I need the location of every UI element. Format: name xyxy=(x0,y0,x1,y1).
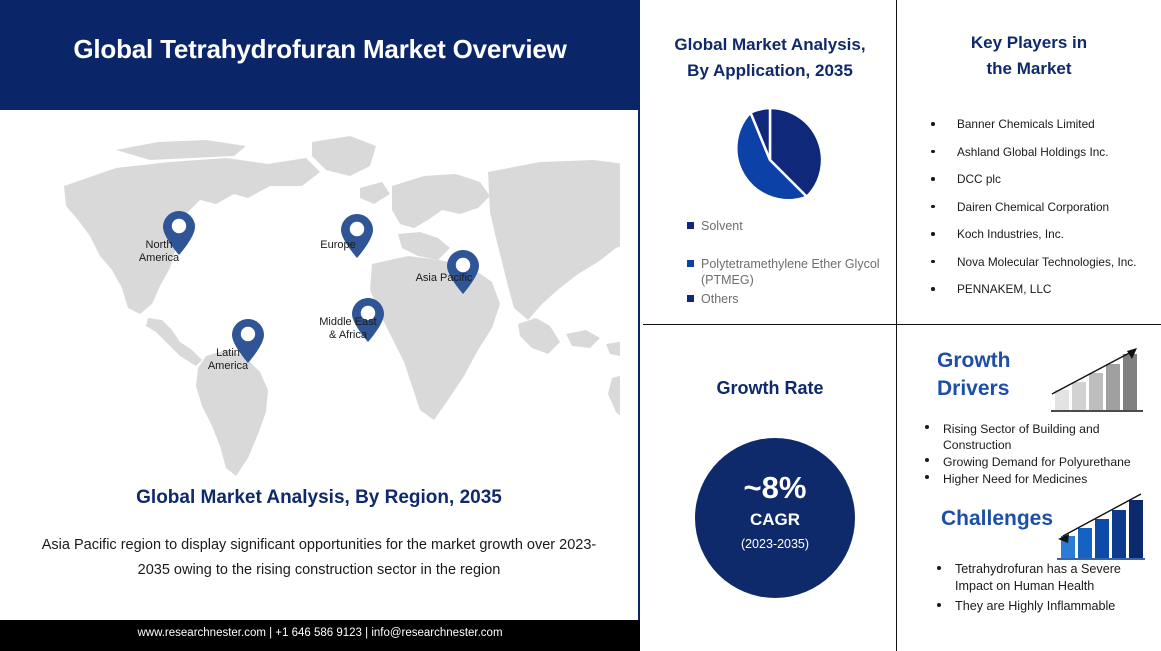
region-analysis-description: Asia Pacific region to display significa… xyxy=(30,533,608,583)
bullet-icon xyxy=(925,458,929,462)
list-item: Dairen Chemical Corporation xyxy=(925,201,1153,215)
list-item-label: Ashland Global Holdings Inc. xyxy=(957,145,1108,159)
title-bar: Global Tetrahydrofuran Market Overview xyxy=(0,0,640,110)
growth-rate-panel: Growth Rate ~8% CAGR (2023-2035) xyxy=(643,325,897,651)
list-item: Rising Sector of Building and Constructi… xyxy=(915,421,1139,453)
legend-swatch-icon xyxy=(687,260,694,267)
list-item-label: Tetrahydrofuran has a Severe Impact on H… xyxy=(955,562,1121,593)
key-players-list: Banner Chemicals Limited Ashland Global … xyxy=(925,118,1153,311)
map-pin-asia-pacific[interactable] xyxy=(426,231,460,277)
list-item: Koch Industries, Inc. xyxy=(925,228,1153,242)
bullet-icon xyxy=(937,566,941,570)
map-pin-label-asia-pacific: Asia Pacific xyxy=(398,272,490,285)
map-pin-north-america[interactable] xyxy=(142,192,176,238)
left-panel: Global Tetrahydrofuran Market Overview xyxy=(0,0,640,651)
bullet-icon xyxy=(931,122,935,126)
challenges-list: Tetrahydrofuran has a Severe Impact on H… xyxy=(915,561,1143,618)
list-item-label: Dairen Chemical Corporation xyxy=(957,200,1109,214)
drivers-challenges-panel: GrowthDrivers Rising Sector of Building … xyxy=(897,325,1161,651)
list-item-label: They are Highly Inflammable xyxy=(955,599,1115,613)
map-pin-label-latin-america: LatinAmerica xyxy=(182,347,274,372)
application-analysis-heading: Global Market Analysis,By Application, 2… xyxy=(651,32,889,84)
list-item-label: DCC plc xyxy=(957,172,1001,186)
legend-label: Solvent xyxy=(701,219,743,233)
growth-drivers-heading: GrowthDrivers xyxy=(937,347,1057,403)
map-pin-label-europe: Europe xyxy=(294,239,382,252)
list-item: Tetrahydrofuran has a Severe Impact on H… xyxy=(915,561,1143,595)
bullet-icon xyxy=(931,260,935,264)
footer-contact-text: www.researchnester.com | +1 646 586 9123… xyxy=(0,627,640,639)
map-pin-europe[interactable] xyxy=(320,195,354,241)
bullet-icon xyxy=(931,150,935,154)
list-item: PENNAKEM, LLC xyxy=(925,283,1153,297)
cagr-label: CAGR xyxy=(695,510,855,530)
page-title: Global Tetrahydrofuran Market Overview xyxy=(0,34,640,65)
bullet-icon xyxy=(931,177,935,181)
legend-label: Others xyxy=(701,292,739,306)
list-item: Nova Molecular Technologies, Inc. xyxy=(925,256,1153,270)
list-item: DCC plc xyxy=(925,173,1153,187)
list-item: Ashland Global Holdings Inc. xyxy=(925,146,1153,160)
world-map-svg xyxy=(20,128,620,478)
growth-drivers-list: Rising Sector of Building and Constructi… xyxy=(915,421,1139,488)
list-item: Banner Chemicals Limited xyxy=(925,118,1153,132)
legend-item-ptmeg: Polytetramethylene Ether Glycol (PTMEG) xyxy=(687,256,893,288)
legend-swatch-icon xyxy=(687,222,694,229)
legend-swatch-icon xyxy=(687,295,694,302)
map-pin-label-middle-east-africa: Middle East& Africa xyxy=(302,316,394,341)
list-item: Growing Demand for Polyurethane xyxy=(915,454,1139,470)
infographic-page: Global Tetrahydrofuran Market Overview xyxy=(0,0,1161,651)
application-pie-chart xyxy=(715,105,825,215)
challenges-bar-chart-icon xyxy=(1055,490,1147,562)
cagr-period: (2023-2035) xyxy=(695,537,855,551)
pie-legend: Solvent Polytetramethylene Ether Glycol … xyxy=(687,218,893,309)
list-item-label: Banner Chemicals Limited xyxy=(957,117,1095,131)
bullet-icon xyxy=(925,475,929,479)
legend-item-solvent: Solvent xyxy=(687,218,893,234)
list-item-label: Nova Molecular Technologies, Inc. xyxy=(957,255,1136,269)
map-pin-label-north-america: NorthAmerica xyxy=(114,239,204,264)
legend-label: Polytetramethylene Ether Glycol (PTMEG) xyxy=(701,257,880,287)
growth-rate-heading: Growth Rate xyxy=(651,378,889,399)
region-analysis-title: Global Market Analysis, By Region, 2035 xyxy=(0,487,638,509)
list-item-label: PENNAKEM, LLC xyxy=(957,282,1051,296)
key-players-panel: Key Players inthe Market Banner Chemical… xyxy=(897,0,1161,325)
bullet-icon xyxy=(925,425,929,429)
bullet-icon xyxy=(931,232,935,236)
application-analysis-panel: Global Market Analysis,By Application, 2… xyxy=(643,0,897,325)
key-players-heading: Key Players inthe Market xyxy=(907,30,1151,82)
list-item-label: Koch Industries, Inc. xyxy=(957,227,1064,241)
footer-bar: www.researchnester.com | +1 646 586 9123… xyxy=(0,620,640,651)
cagr-percent: ~8% xyxy=(695,470,855,506)
bullet-icon xyxy=(931,287,935,291)
legend-item-others: Others xyxy=(687,291,893,307)
cagr-circle: ~8% CAGR (2023-2035) xyxy=(695,438,855,598)
list-item-label: Growing Demand for Polyurethane xyxy=(943,455,1131,469)
list-item-label: Rising Sector of Building and Constructi… xyxy=(943,422,1100,452)
world-map: NorthAmerica Europe Asia Pacific xyxy=(0,110,638,480)
bullet-icon xyxy=(937,603,941,607)
list-item: Higher Need for Medicines xyxy=(915,471,1139,487)
bullet-icon xyxy=(931,205,935,209)
list-item: They are Highly Inflammable xyxy=(915,598,1143,615)
list-item-label: Higher Need for Medicines xyxy=(943,472,1087,486)
growth-drivers-bar-chart-icon xyxy=(1049,342,1145,414)
map-pin-latin-america[interactable] xyxy=(211,300,245,346)
